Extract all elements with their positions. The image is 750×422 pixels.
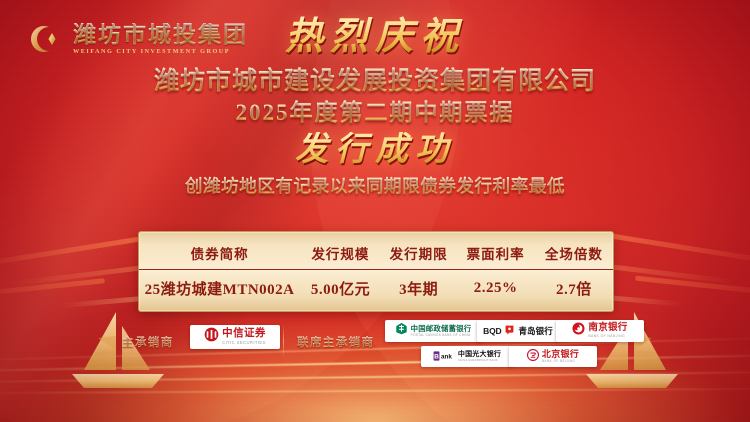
bqd-logo-icon (504, 322, 515, 340)
beijing-name-en: BANK OF BEIJING (542, 360, 575, 363)
headline-celebrate: 热烈庆祝 (0, 16, 750, 56)
logo-chip-nanjing: 南京银行 BANK OF NANJING (556, 320, 644, 342)
nanjing-name-cn: 南京银行 (588, 324, 627, 334)
psbc-logo-icon (395, 322, 408, 340)
citic-logo-icon (204, 327, 219, 347)
bqd-name-cn: 青岛银行 (518, 327, 552, 336)
everbright-name-cn: 中国光大银行 (458, 351, 501, 358)
bqd-name-en: BQD (483, 327, 501, 336)
joint-underwriter-label: 联席主承销商 (297, 334, 374, 350)
table-header-row: 债券简称 发行规模 发行期限 票面利率 全场倍数 (139, 236, 613, 270)
svg-text:B: B (434, 353, 439, 360)
table-header-cell: 发行规模 (300, 236, 381, 270)
nanjing-logo-icon (572, 322, 585, 340)
table-cell-coupon-rate: 2.25% (457, 270, 535, 306)
headline-subtitle: 创潍坊地区有记录以来同期限债券发行利率最低 (0, 173, 750, 198)
celebration-poster: 潍坊市城投集团 WEIFANG CITY INVESTMENT GROUP 热烈… (0, 0, 750, 422)
table-cell-tenor: 3年期 (381, 270, 457, 306)
footer-divider (283, 324, 284, 358)
table-header-cell: 全场倍数 (535, 236, 613, 270)
headline-issue: 2025年度第二期中期票据 (0, 98, 750, 128)
beijing-name-cn: 北京银行 (542, 350, 579, 359)
everbright-logo-icon: B ank (433, 348, 455, 366)
table-header-cell: 债券简称 (139, 236, 300, 270)
table-row: 25潍坊城建MTN002A 5.00亿元 3年期 2.25% 2.7倍 (139, 270, 613, 306)
headline-stack: 热烈庆祝 潍坊市城市建设发展投资集团有限公司 2025年度第二期中期票据 发行成… (0, 16, 750, 198)
citic-name-cn: 中信证券 (222, 329, 266, 340)
headline-company: 潍坊市城市建设发展投资集团有限公司 (0, 65, 750, 98)
table-cell-issue-size: 5.00亿元 (300, 270, 381, 306)
logo-chip-citic: 中信证券 CITIC SECURITIES (190, 325, 280, 349)
logo-chip-psbc: 中国邮政储蓄银行 POSTAL SAVINGS BANK OF CHINA (385, 320, 481, 342)
logo-chip-bqd: BQD 青岛银行 (477, 320, 559, 342)
everbright-name-en: CHINA EVERBRIGHT BANK (458, 359, 498, 362)
bond-info-table: 债券简称 发行规模 发行期限 票面利率 全场倍数 25潍坊城建MTN002A 5… (138, 231, 614, 312)
table-cell-subscription-multiple: 2.7倍 (535, 270, 613, 306)
svg-text:ank: ank (441, 353, 452, 360)
beijing-logo-icon (527, 348, 539, 366)
psbc-name-en: POSTAL SAVINGS BANK OF CHINA (411, 334, 471, 337)
psbc-name-cn: 中国邮政储蓄银行 (411, 325, 472, 332)
headline-success: 发行成功 (0, 132, 750, 167)
citic-name-en: CITIC SECURITIES (222, 341, 266, 345)
lead-underwriter-label: 主承销商 (122, 334, 174, 350)
table-header-cell: 票面利率 (457, 236, 535, 270)
table-cell-bond-name: 25潍坊城建MTN002A (139, 270, 300, 306)
underwriter-footer: 主承销商 联席主承销商 中信证券 CITIC SECURITIES (0, 322, 750, 380)
logo-chip-beijing: 北京银行 BANK OF BEIJING (509, 346, 597, 367)
logo-chip-everbright: B ank 中国光大银行 CHINA EVERBRIGHT BANK (421, 346, 513, 367)
table-header-cell: 发行期限 (381, 236, 457, 270)
nanjing-name-en: BANK OF NANJING (588, 335, 625, 338)
